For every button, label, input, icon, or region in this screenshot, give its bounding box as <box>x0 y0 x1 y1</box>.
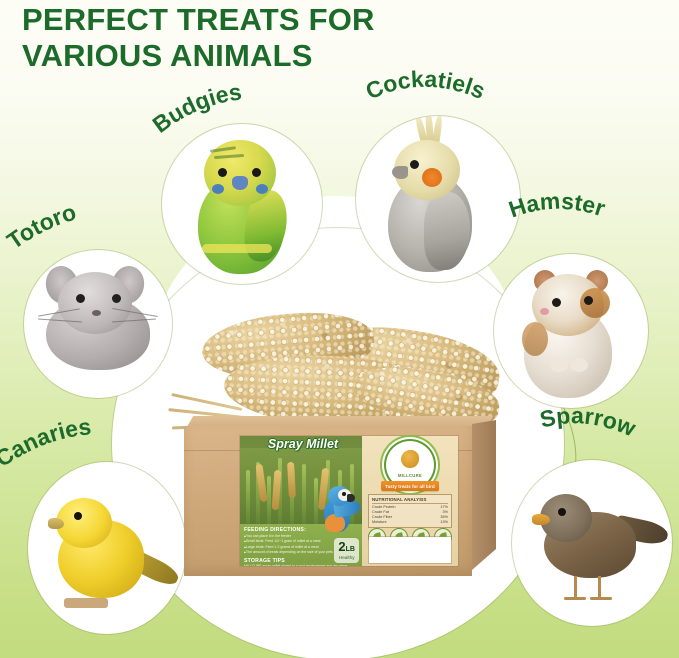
animal-bubble-totoro[interactable] <box>24 250 172 398</box>
brand-logo: MILLCURE Tasty treats for all bird <box>386 441 434 489</box>
nutrition-heading: NUTRITIONAL ANALYSIS <box>372 497 448 504</box>
weight-badge-tagline: Healthy <box>338 556 355 561</box>
blank-sticker-area <box>369 537 451 563</box>
label-hamster: Hamster <box>508 196 679 266</box>
sparrow-leg-left <box>574 576 577 598</box>
chinchilla-photo <box>24 250 172 398</box>
label-text-budgies: Budgies <box>148 78 244 137</box>
headline-line-1: PERFECT TREATS FOR <box>22 2 375 37</box>
label-text-hamster: Hamster <box>505 188 608 223</box>
chinchilla-head <box>58 272 132 334</box>
label-cockatiels: Cockatiels <box>368 74 568 144</box>
sparrow-foot-right <box>590 597 612 600</box>
budgie-cheek-right <box>256 184 268 194</box>
canary-eye <box>74 512 82 520</box>
product-box[interactable]: Spray Millet 2LB Healthy FEEDING DIRECTI… <box>184 416 500 576</box>
hamster-eye-right <box>584 296 593 305</box>
parrot-beak <box>347 494 355 502</box>
label-sparrow: Sparrow <box>540 408 679 478</box>
label-budgies: Budgies <box>156 88 336 148</box>
nutrition-name: Moisture <box>372 520 429 525</box>
label-text-sparrow: Sparrow <box>537 402 639 441</box>
cockatiel-cheek-patch <box>422 168 442 187</box>
canary-beak <box>48 518 64 529</box>
animal-bubble-sparrow[interactable] <box>512 460 672 626</box>
weight-badge-unit: LB <box>346 546 355 553</box>
label-text-totoro: Totoro <box>2 199 79 254</box>
label-text-canaries: Canaries <box>0 413 92 472</box>
hamster-eye-left <box>552 298 561 307</box>
budgie-eye-left <box>218 168 227 177</box>
label-product-title: Spray Millet <box>244 437 362 451</box>
chinchilla-eye-left <box>76 294 85 303</box>
nutrition-panel: NUTRITIONAL ANALYSIS Crude Protein 17% C… <box>368 494 452 528</box>
cockatiel-eye <box>410 160 419 169</box>
hamster-paw-left <box>550 358 568 372</box>
brand-name: MILLCURE <box>386 473 434 478</box>
nutrition-table: Crude Protein 17% Crude Fat 3% Crude Fib… <box>372 505 448 525</box>
headline-line-2: VARIOUS ANIMALS <box>22 38 582 74</box>
label-right-panel: MILLCURE Tasty treats for all bird NUTRI… <box>362 436 458 566</box>
hamster-nose <box>540 308 549 315</box>
hamster-paw-right <box>570 358 588 372</box>
label-totoro: Totoro <box>8 198 198 258</box>
sparrow-photo <box>512 460 672 626</box>
product-label: Spray Millet 2LB Healthy FEEDING DIRECTI… <box>240 436 458 566</box>
chinchilla-nose <box>92 310 101 316</box>
animal-bubble-canaries[interactable] <box>28 462 186 634</box>
canary-head <box>56 498 112 548</box>
nutrition-row: Moisture 13% <box>372 520 448 525</box>
parrot-eye <box>342 492 346 496</box>
sparrow-beak <box>532 514 550 525</box>
budgie-eye-right <box>252 168 261 177</box>
nutrition-value: 13% <box>429 520 448 525</box>
sparrow-leg-right <box>598 576 601 598</box>
product-infographic: PERFECT TREATS FOR VARIOUS ANIMALS <box>0 0 679 658</box>
budgie-cheek-left <box>212 184 224 194</box>
logo-bird-icon <box>401 450 419 468</box>
brand-slogan-ribbon: Tasty treats for all bird <box>381 481 439 491</box>
chinchilla-eye-right <box>112 294 121 303</box>
parrot-illustration <box>314 484 360 536</box>
hamster-fur-patch <box>522 322 548 356</box>
page-title: PERFECT TREATS FOR VARIOUS ANIMALS <box>22 2 582 74</box>
hamster-photo <box>494 254 648 408</box>
millet-head-graphic <box>287 462 296 498</box>
box-side-panel <box>472 420 496 570</box>
canary-perch <box>64 598 108 608</box>
sparrow-foot-left <box>564 597 586 600</box>
label-canaries: Canaries <box>0 412 186 482</box>
animal-bubble-hamster[interactable] <box>494 254 648 408</box>
sparrow-eye <box>558 508 566 516</box>
cockatiel-wing <box>424 192 470 270</box>
budgie-belly-band <box>202 244 272 253</box>
budgie-beak <box>232 176 248 190</box>
weight-badge-number: 2 <box>338 539 345 554</box>
canary-photo <box>28 462 186 634</box>
cockatiel-beak <box>392 166 408 179</box>
label-left-panel: Spray Millet 2LB Healthy FEEDING DIRECTI… <box>240 436 362 566</box>
brand-slogan: Tasty treats for all bird <box>385 484 435 489</box>
storage-tips-text: MILLCURE spray millet stored in a cool e… <box>244 564 358 566</box>
weight-badge: 2LB Healthy <box>334 538 359 563</box>
